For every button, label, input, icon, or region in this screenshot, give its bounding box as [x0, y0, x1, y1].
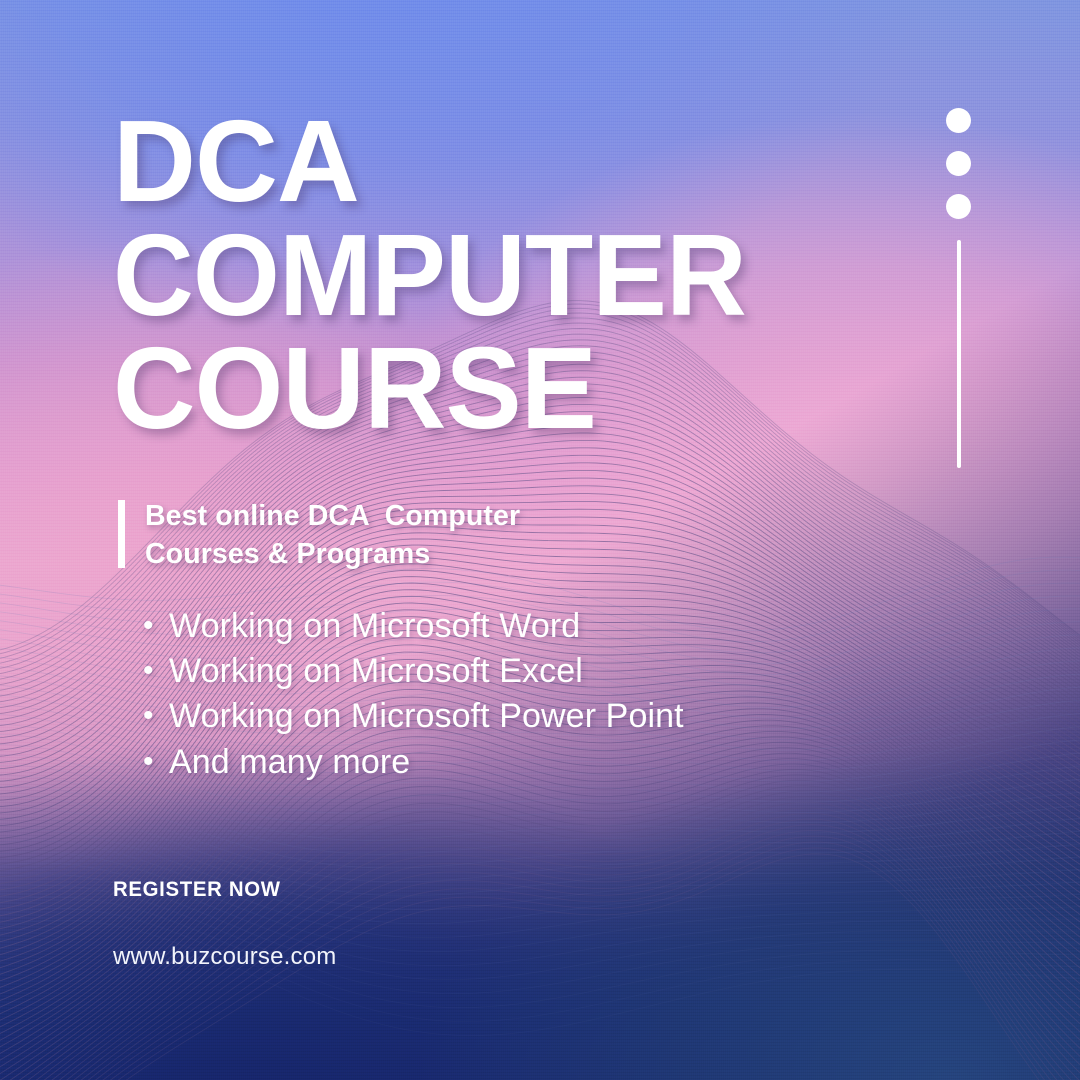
course-feature-list: • Working on Microsoft Word • Working on… — [143, 604, 684, 785]
headline-line-2: COMPUTER — [113, 219, 904, 333]
bullet-dot-icon: • — [143, 701, 169, 731]
register-now-cta[interactable]: REGISTER NOW — [113, 878, 281, 902]
website-url[interactable]: www.buzcourse.com — [113, 943, 336, 971]
list-item: • Working on Microsoft Word — [143, 604, 684, 649]
bullet-dot-icon: • — [143, 747, 169, 777]
circle-icon — [946, 194, 971, 219]
poster-content: DCA COMPUTER COURSE Best online DCA Comp… — [0, 0, 1080, 1080]
list-item: • Working on Microsoft Power Point — [143, 694, 684, 739]
vertical-rule — [957, 240, 961, 468]
poster-canvas: DCA COMPUTER COURSE Best online DCA Comp… — [0, 0, 1080, 1080]
list-item-label: Working on Microsoft Power Point — [169, 694, 684, 739]
circle-icon — [946, 108, 971, 133]
list-item: • And many more — [143, 740, 684, 785]
bullet-dot-icon: • — [143, 611, 169, 641]
headline-line-3: COURSE — [113, 332, 921, 446]
decorative-dots — [946, 108, 971, 237]
list-item-label: And many more — [169, 740, 410, 785]
subtitle-block: Best online DCA Computer Courses & Progr… — [118, 498, 520, 574]
page-title: DCA COMPUTER COURSE — [113, 105, 933, 446]
list-item-label: Working on Microsoft Excel — [169, 649, 583, 694]
circle-icon — [946, 151, 971, 176]
subtitle-text: Best online DCA Computer Courses & Progr… — [145, 498, 520, 574]
list-item: • Working on Microsoft Excel — [143, 649, 684, 694]
list-item-label: Working on Microsoft Word — [169, 604, 580, 649]
headline-line-1: DCA — [113, 105, 925, 219]
bullet-dot-icon: • — [143, 656, 169, 686]
subtitle-accent-bar — [118, 500, 125, 568]
